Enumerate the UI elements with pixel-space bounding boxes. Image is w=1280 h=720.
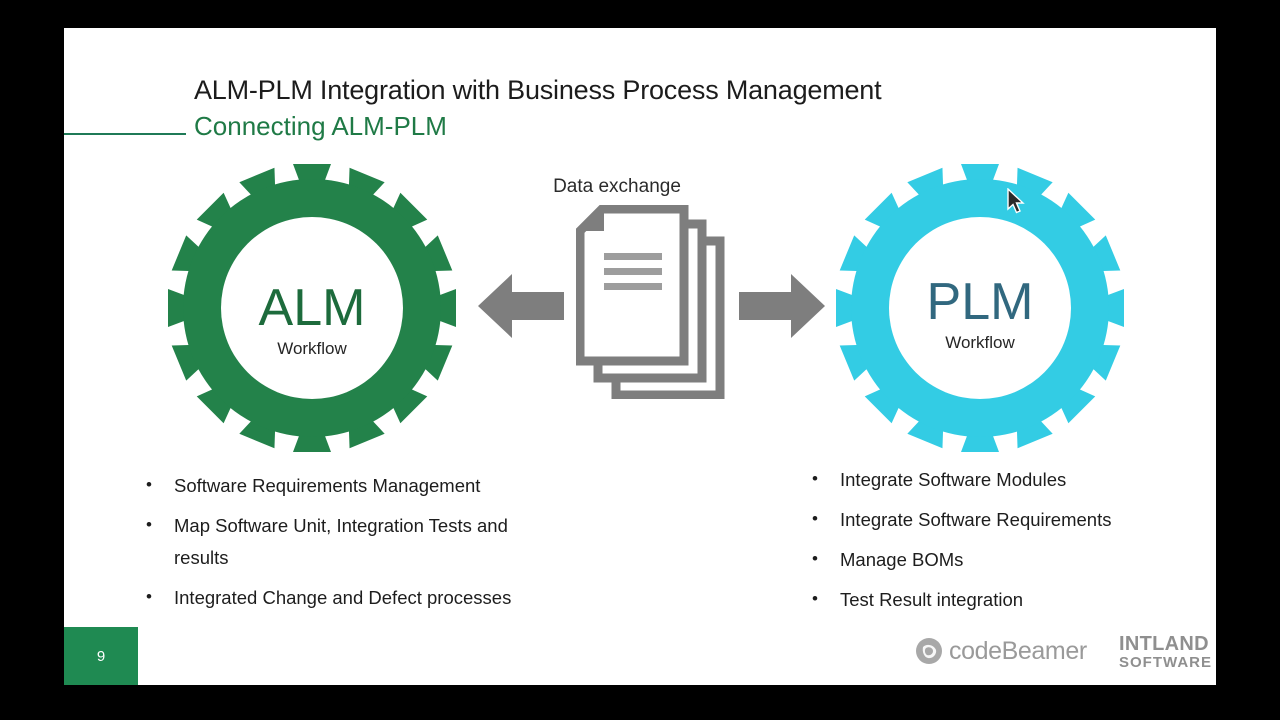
list-item-label: Map Software Unit, Integration Tests and… — [174, 510, 566, 574]
alm-bullet-list: • Software Requirements Management • Map… — [146, 470, 566, 622]
list-item-label: Manage BOMs — [840, 544, 1192, 576]
title-underline-rule — [64, 133, 186, 135]
plm-gear-graphic: PLM Workflow — [836, 164, 1124, 452]
bullet-marker-icon: • — [812, 584, 840, 614]
bullet-marker-icon: • — [146, 510, 174, 540]
page-number-badge: 9 — [64, 627, 138, 685]
list-item: • Map Software Unit, Integration Tests a… — [146, 510, 566, 574]
list-item: • Integrate Software Requirements — [812, 504, 1192, 536]
list-item-label: Integrate Software Modules — [840, 464, 1192, 496]
gear-icon — [836, 164, 1124, 452]
globe-icon — [914, 636, 944, 666]
page-number-value: 9 — [97, 648, 105, 665]
list-item: • Test Result integration — [812, 584, 1192, 616]
bullet-marker-icon: • — [146, 582, 174, 612]
arrow-left-icon — [478, 273, 564, 339]
plm-bullet-list: • Integrate Software Modules • Integrate… — [812, 464, 1192, 624]
document-stack-icon — [576, 205, 726, 399]
page-subtitle: Connecting ALM-PLM — [194, 111, 447, 142]
list-item-label: Integrate Software Requirements — [840, 504, 1192, 536]
bullet-marker-icon: • — [146, 470, 174, 500]
list-item: • Integrated Change and Defect processes — [146, 582, 566, 614]
alm-gear-graphic: ALM Workflow — [168, 164, 456, 452]
bullet-marker-icon: • — [812, 504, 840, 534]
arrow-right-icon — [739, 273, 825, 339]
intland-line-2: SOFTWARE — [1119, 654, 1212, 671]
intland-software-logo: INTLAND SOFTWARE — [1119, 634, 1212, 671]
intland-line-1: INTLAND — [1119, 634, 1212, 654]
data-exchange-label: Data exchange — [507, 176, 727, 198]
codebeamer-logo: codeBeamer — [914, 636, 1087, 666]
codebeamer-wordmark: codeBeamer — [949, 637, 1087, 666]
bullet-marker-icon: • — [812, 464, 840, 494]
list-item-label: Integrated Change and Defect processes — [174, 582, 566, 614]
page-title: ALM-PLM Integration with Business Proces… — [194, 75, 881, 106]
video-frame: ALM-PLM Integration with Business Proces… — [0, 0, 1280, 720]
list-item-label: Test Result integration — [840, 584, 1192, 616]
list-item: • Manage BOMs — [812, 544, 1192, 576]
list-item: • Software Requirements Management — [146, 470, 566, 502]
list-item: • Integrate Software Modules — [812, 464, 1192, 496]
list-item-label: Software Requirements Management — [174, 470, 566, 502]
footer-logos: codeBeamer INTLAND SOFTWARE — [914, 628, 1204, 676]
bullet-marker-icon: • — [812, 544, 840, 574]
gear-icon — [168, 164, 456, 452]
slide-canvas: ALM-PLM Integration with Business Proces… — [64, 28, 1216, 685]
